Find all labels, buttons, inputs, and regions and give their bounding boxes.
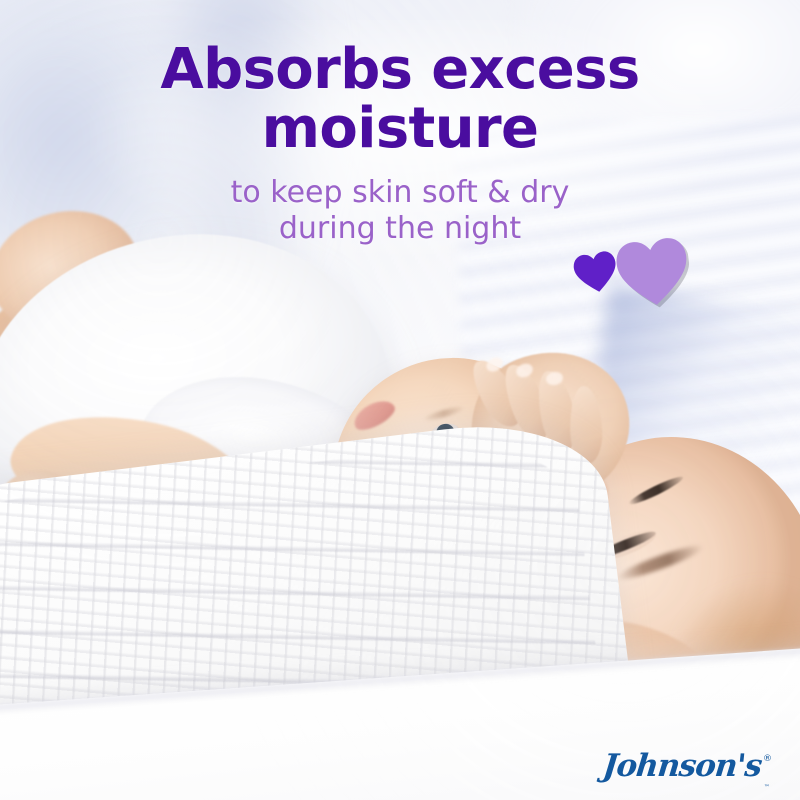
heart-large-icon	[612, 234, 694, 312]
brand-wordmark: Johnson's	[601, 751, 762, 782]
headline-line-2: moisture	[0, 99, 800, 158]
subheadline-line-1: to keep skin soft & dry	[231, 175, 570, 210]
headline: Absorbs excess moisture	[0, 40, 800, 159]
headline-line-1: Absorbs excess	[160, 37, 639, 102]
brand-logo: Johnson's ® ™	[603, 751, 772, 782]
product-marketing-banner: Absorbs excess moisture to keep skin sof…	[0, 0, 800, 800]
registered-trademark-symbol: ®	[763, 755, 772, 764]
trademark-symbol: ™	[764, 784, 770, 791]
marketing-copy: Absorbs excess moisture to keep skin sof…	[0, 40, 800, 248]
heart-decoration-group	[560, 238, 720, 338]
